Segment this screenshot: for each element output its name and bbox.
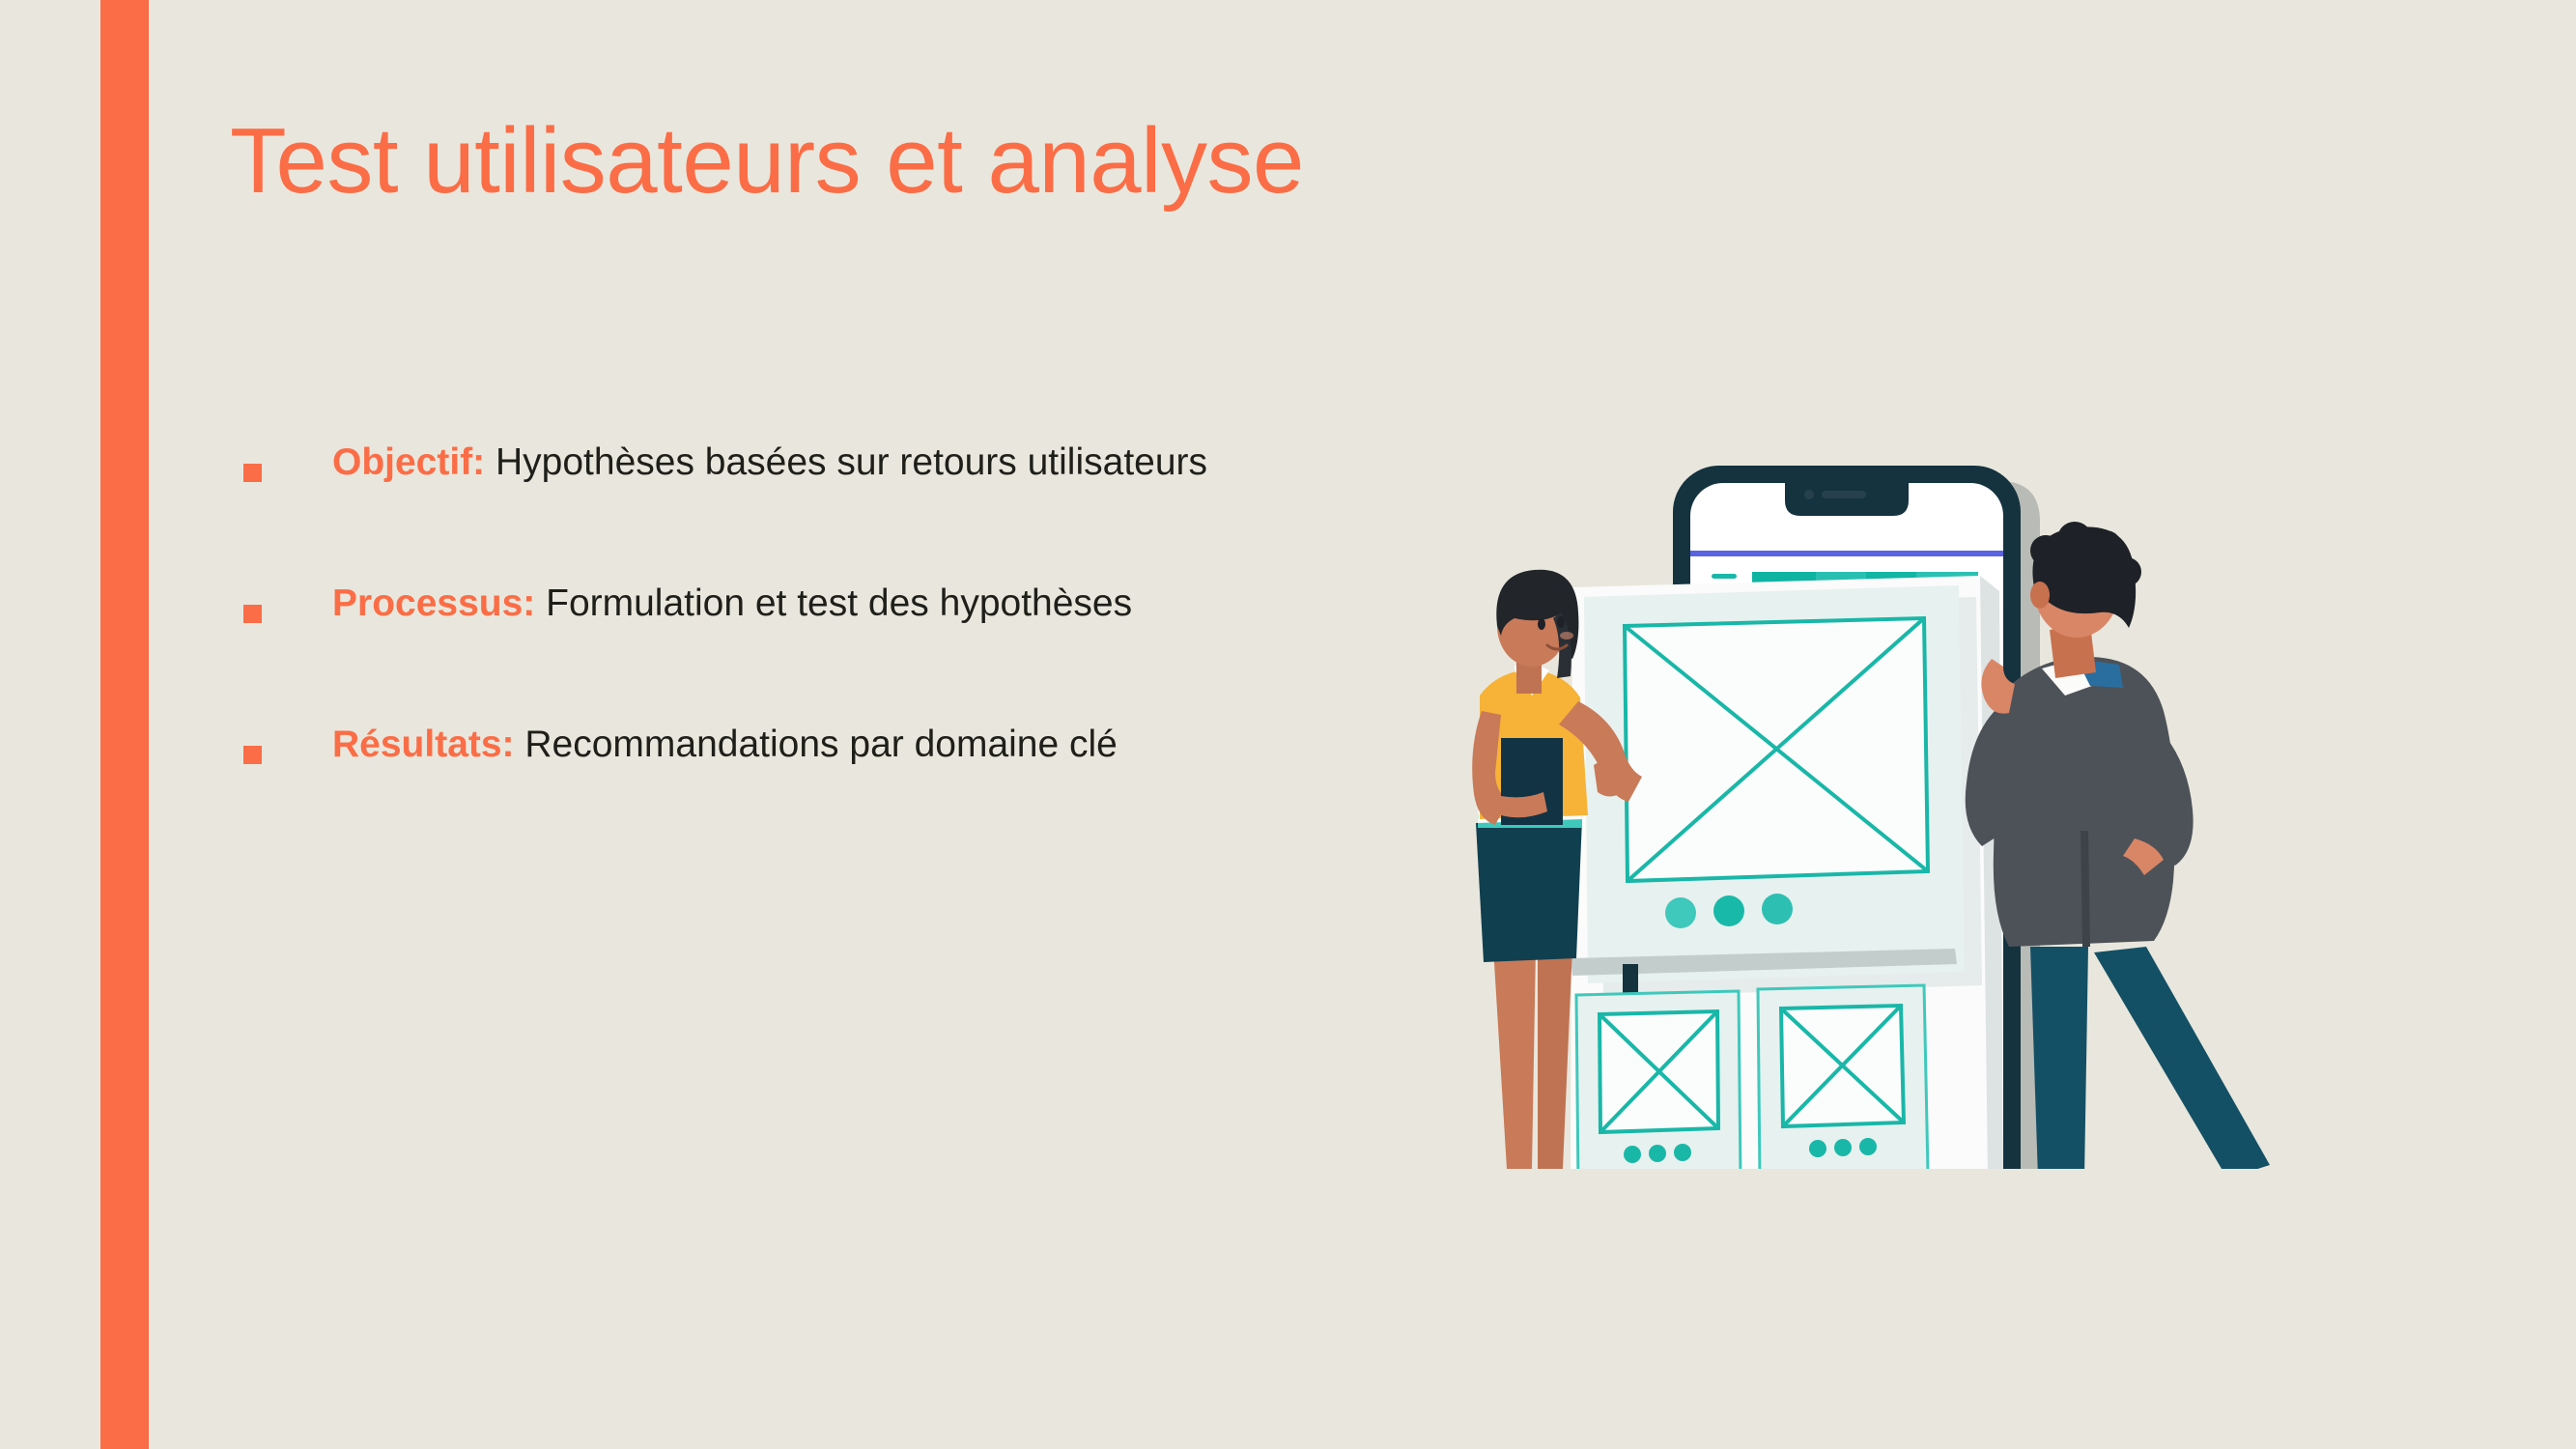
wireframe-card-small-left [1576, 991, 1741, 1169]
card-dot-icon [1809, 1140, 1826, 1157]
phone-camera-icon [1804, 490, 1814, 499]
browser-status-bar [1690, 551, 2003, 556]
card-dot-icon [1624, 1146, 1641, 1163]
bullet-lead-label: Objectif: [332, 441, 485, 483]
woman-leg [1538, 947, 1572, 1169]
bullet-body-text: Hypothèses basées sur retours utilisateu… [485, 441, 1207, 483]
card-dot-icon [1713, 895, 1744, 926]
woman-leg [1493, 947, 1536, 1169]
card-dot-icon [1674, 1144, 1691, 1161]
wireframe-card-main [1584, 585, 1982, 997]
bullet-square-icon [243, 746, 262, 764]
card-dot-icon [1834, 1139, 1852, 1156]
bullet-body-text: Formulation et test des hypothèses [535, 582, 1132, 624]
list-item: Objectif: Hypothèses basées sur retours … [243, 437, 1209, 488]
left-accent-bar [100, 0, 149, 1449]
bullet-text: Résultats: Recommandations par domaine c… [332, 719, 1209, 770]
woman-eye [1557, 616, 1565, 628]
presentation-slide: Test utilisateurs et analyse Objectif: H… [0, 0, 2576, 1449]
page-title: Test utilisateurs et analyse [230, 110, 1679, 213]
bullet-square-icon [243, 464, 262, 482]
bullet-list: Objectif: Hypothèses basées sur retours … [243, 437, 1209, 770]
man-ear [2030, 582, 2050, 609]
card-dot-icon [1649, 1145, 1666, 1162]
phone-notch [1785, 483, 1909, 516]
man-hair-curl [2112, 557, 2141, 586]
woman-blush [1560, 632, 1573, 639]
card-dot-icon [1859, 1138, 1877, 1155]
bullet-text: Processus: Formulation et test des hypot… [332, 578, 1209, 629]
list-item: Processus: Formulation et test des hypot… [243, 578, 1209, 629]
list-item: Résultats: Recommandations par domaine c… [243, 719, 1209, 770]
usability-testing-illustration [1401, 406, 2289, 1169]
man-hair-curl [2089, 530, 2122, 563]
bullet-lead-label: Processus: [332, 582, 535, 624]
woman-skirt [1476, 819, 1582, 962]
wireframe-card-small-right [1758, 985, 1928, 1169]
bullet-lead-label: Résultats: [332, 724, 515, 765]
woman-eye [1538, 618, 1545, 630]
bullet-text: Objectif: Hypothèses basées sur retours … [332, 437, 1209, 488]
man-leg-left [2030, 947, 2088, 1169]
card-dot-icon [1762, 894, 1793, 924]
bullet-square-icon [243, 605, 262, 623]
bullet-body-text: Recommandations par domaine clé [515, 724, 1118, 765]
phone-speaker-icon [1822, 491, 1866, 498]
man-hair-curl [2030, 535, 2061, 566]
man-leg-right [2094, 947, 2270, 1169]
man-hair-curl [2057, 522, 2092, 556]
card-dot-icon [1665, 897, 1696, 928]
